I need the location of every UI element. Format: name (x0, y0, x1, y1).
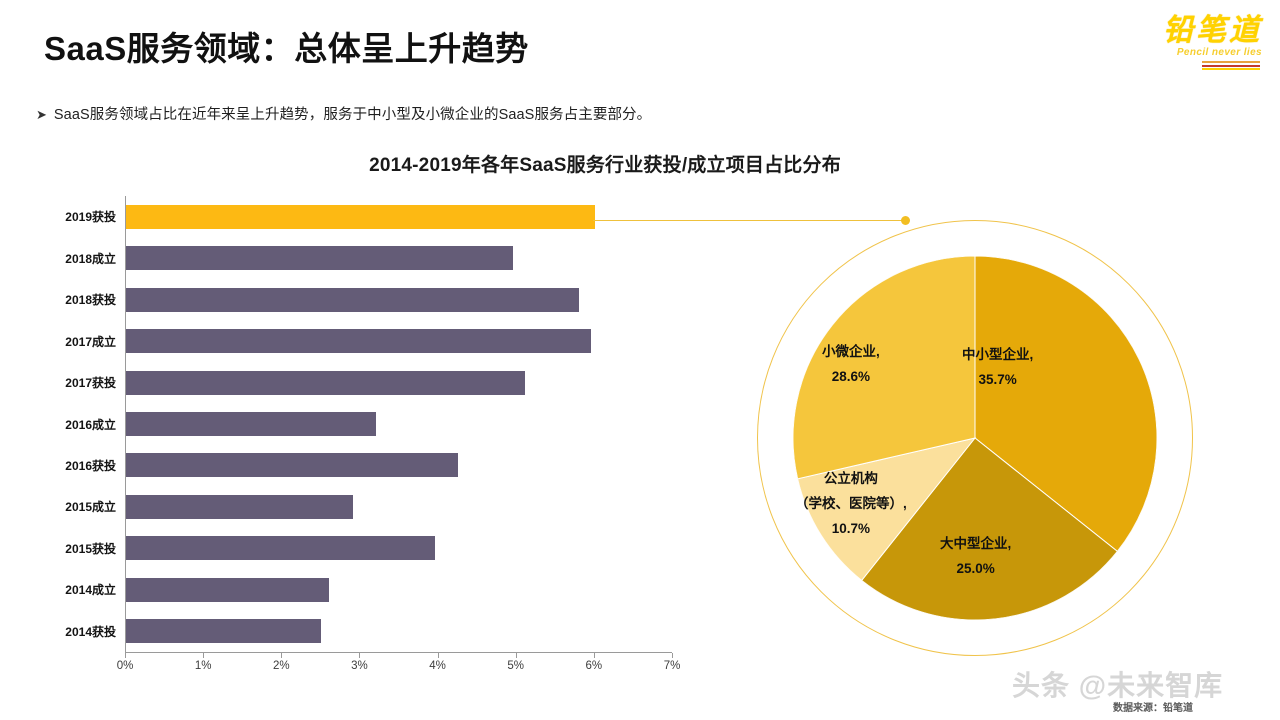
bar-rect (126, 371, 525, 395)
bar-category-label: 2018获投 (40, 291, 126, 308)
pie-slice-value: 10.7% (795, 516, 907, 541)
bar-category-label: 2017成立 (40, 333, 126, 350)
watermark: 头条 @未来智库 (1012, 664, 1223, 704)
chart-title-text: 2014-2019年各年SaaS服务行业获投/成立项目占比分布 (369, 150, 841, 177)
pie-slice-value: 35.7% (962, 367, 1033, 392)
pie-slice-name: 大中型企业, (940, 531, 1011, 556)
bar-rect (126, 536, 435, 560)
x-axis-tick-label: 6% (586, 660, 603, 672)
source-note: 数据来源：铅笔道 (1113, 699, 1193, 714)
x-axis-tick-label: 0% (117, 660, 134, 672)
logo-chinese-text: 铅笔道 (1112, 14, 1262, 48)
bar-row: 2015成立 (126, 495, 353, 519)
chart-title: 2014-2019年各年SaaS服务行业获投/成立项目占比分布 (0, 150, 1280, 177)
bar-rect (126, 205, 595, 229)
bar-row: 2016获投 (126, 453, 458, 477)
x-axis-tick (281, 653, 282, 658)
bar-rect (126, 578, 329, 602)
x-axis-tick-label: 7% (664, 660, 681, 672)
bar-category-label: 2014成立 (40, 581, 126, 598)
x-axis-tick-label: 1% (195, 660, 212, 672)
bar-category-label: 2018成立 (40, 250, 126, 267)
x-axis-tick (438, 653, 439, 658)
x-axis-tick-label: 3% (351, 660, 368, 672)
x-axis-tick (125, 653, 126, 658)
bullet-text: SaaS服务领域占比在近年来呈上升趋势，服务于中小型及小微企业的SaaS服务占主… (54, 103, 651, 124)
bar-category-label: 2015获投 (40, 540, 126, 557)
pie-slice-label: 小微企业,28.6% (822, 339, 880, 389)
bar-plot-area: 2019获投2018成立2018获投2017成立2017获投2016成立2016… (125, 196, 672, 652)
page-title: SaaS服务领域：总体呈上升趋势 (44, 22, 529, 70)
x-axis-tick (672, 653, 673, 658)
bar-row: 2015获投 (126, 536, 435, 560)
pie-slice-label: 公立机构（学校、医院等）,10.7% (795, 466, 907, 541)
x-axis-tick (594, 653, 595, 658)
bar-rect (126, 412, 376, 436)
arrow-bullet-icon: ➤ (36, 107, 47, 123)
pie-chart: 中小型企业,35.7%大中型企业,25.0%公立机构（学校、医院等）,10.7%… (740, 204, 1210, 674)
pie-slice-value: 28.6% (822, 364, 880, 389)
x-axis-tick-label: 5% (507, 660, 524, 672)
pie-slice-name: 公立机构 (795, 466, 907, 491)
bar-rect (126, 453, 458, 477)
bar-row: 2016成立 (126, 412, 376, 436)
bar-row: 2019获投 (126, 205, 595, 229)
bar-rect (126, 329, 591, 353)
pie-slice-name: （学校、医院等）, (795, 491, 907, 516)
x-axis-tick-label: 4% (429, 660, 446, 672)
logo-tagline: Pencil never lies (1112, 47, 1262, 58)
bullet-row: ➤ SaaS服务领域占比在近年来呈上升趋势，服务于中小型及小微企业的SaaS服务… (36, 103, 651, 124)
x-axis-tick (203, 653, 204, 658)
x-axis-tick (359, 653, 360, 658)
bar-category-label: 2019获投 (40, 208, 126, 225)
bar-rect (126, 288, 579, 312)
bar-rect (126, 619, 321, 643)
bar-row: 2018获投 (126, 288, 579, 312)
pie-slice-name: 中小型企业, (962, 342, 1033, 367)
bar-rect (126, 246, 513, 270)
bar-category-label: 2016获投 (40, 457, 126, 474)
bar-row: 2017获投 (126, 371, 525, 395)
bar-x-axis: 0%1%2%3%4%5%6%7% (125, 652, 672, 676)
x-axis-tick-label: 2% (273, 660, 290, 672)
logo-stripes-icon (1202, 60, 1260, 71)
bar-row: 2018成立 (126, 246, 513, 270)
bar-row: 2014成立 (126, 578, 329, 602)
brand-logo: 铅笔道 Pencil never lies (1112, 14, 1262, 76)
bar-category-label: 2015成立 (40, 498, 126, 515)
bar-category-label: 2014获投 (40, 623, 126, 640)
bar-row: 2014获投 (126, 619, 321, 643)
bar-category-label: 2017获投 (40, 374, 126, 391)
pie-slice-name: 小微企业, (822, 339, 880, 364)
x-axis-tick (516, 653, 517, 658)
bar-chart: 2019获投2018成立2018获投2017成立2017获投2016成立2016… (36, 196, 696, 676)
bar-rect (126, 495, 353, 519)
bar-category-label: 2016成立 (40, 416, 126, 433)
bar-row: 2017成立 (126, 329, 591, 353)
pie-slice-label: 大中型企业,25.0% (940, 531, 1011, 581)
pie-slice-value: 25.0% (940, 556, 1011, 581)
pie-slice-label: 中小型企业,35.7% (962, 342, 1033, 392)
